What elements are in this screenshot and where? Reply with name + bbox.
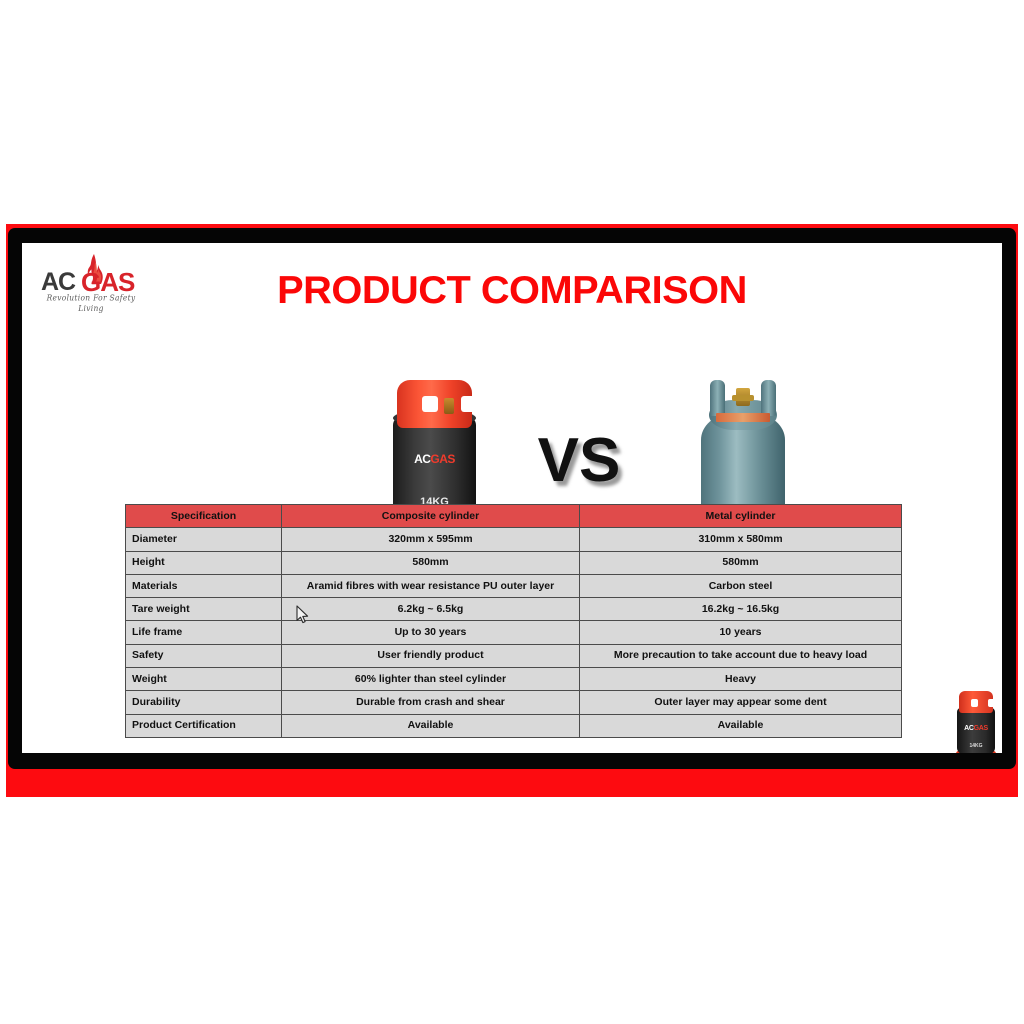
composite-handle-slot-right: [461, 396, 477, 412]
corner-handle-slot-right: [988, 699, 995, 707]
spec-label-cell: Weight: [126, 668, 282, 691]
spec-value-cell: Available: [580, 714, 902, 737]
spec-label-cell: Height: [126, 551, 282, 574]
table-row: Diameter320mm x 595mm310mm x 580mm: [126, 528, 902, 551]
spec-value-cell: 320mm x 595mm: [282, 528, 580, 551]
composite-handle-slot-left: [422, 396, 438, 412]
table-row: Height580mm580mm: [126, 551, 902, 574]
corner-handle-slot-left: [971, 699, 978, 707]
header-specification: Specification: [126, 505, 282, 528]
spec-value-cell: Up to 30 years: [282, 621, 580, 644]
spec-value-cell: Heavy: [580, 668, 902, 691]
table-row: SafetyUser friendly productMore precauti…: [126, 644, 902, 667]
spec-value-cell: 60% lighter than steel cylinder: [282, 668, 580, 691]
table-row: MaterialsAramid fibres with wear resista…: [126, 574, 902, 597]
table-row: Weight60% lighter than steel cylinderHea…: [126, 668, 902, 691]
spec-value-cell: 6.2kg ~ 6.5kg: [282, 598, 580, 621]
spec-value-cell: Outer layer may appear some dent: [580, 691, 902, 714]
header-composite: Composite cylinder: [282, 505, 580, 528]
spec-label-cell: Product Certification: [126, 714, 282, 737]
spec-value-cell: 580mm: [580, 551, 902, 574]
spec-label-cell: Tare weight: [126, 598, 282, 621]
steel-handle-left: [710, 380, 725, 416]
spec-value-cell: 310mm x 580mm: [580, 528, 902, 551]
slide-content: AC GAS Revolution For Safety Living PROD…: [22, 243, 1002, 753]
composite-collar-handle: [397, 380, 472, 428]
spec-value-cell: Available: [282, 714, 580, 737]
spec-value-cell: 10 years: [580, 621, 902, 644]
spec-label-cell: Materials: [126, 574, 282, 597]
steel-warning-label: [716, 413, 770, 422]
composite-logo-gas: GAS: [430, 452, 455, 466]
composite-logo-ac: AC: [414, 452, 430, 466]
spec-label-cell: Diameter: [126, 528, 282, 551]
header-metal: Metal cylinder: [580, 505, 902, 528]
corner-cylinder-image: ACGAS 14KG: [952, 687, 1000, 753]
comparison-table: Specification Composite cylinder Metal c…: [125, 504, 902, 738]
slide-canvas: AC GAS Revolution For Safety Living PROD…: [0, 0, 1024, 1024]
spec-value-cell: 16.2kg ~ 16.5kg: [580, 598, 902, 621]
table-row: Life frameUp to 30 years10 years: [126, 621, 902, 644]
corner-body-logo: ACGAS: [952, 725, 1000, 732]
product-hero: ACGAS 14KG VS Compo: [22, 303, 1002, 498]
spec-value-cell: More precaution to take account due to h…: [580, 644, 902, 667]
corner-logo-gas: GAS: [974, 725, 988, 732]
composite-body-logo: ACGAS: [382, 452, 487, 466]
spec-label-cell: Life frame: [126, 621, 282, 644]
corner-collar: [959, 691, 993, 713]
corner-capacity-label: 14KG: [952, 743, 1000, 749]
spec-value-cell: Durable from crash and shear: [282, 691, 580, 714]
steel-valve-nut: [732, 395, 754, 401]
versus-label: VS: [519, 425, 639, 496]
table-body: Diameter320mm x 595mm310mm x 580mmHeight…: [126, 528, 902, 738]
spec-label-cell: Safety: [126, 644, 282, 667]
steel-handle-right: [761, 380, 776, 416]
composite-valve: [444, 398, 454, 414]
table-row: DurabilityDurable from crash and shearOu…: [126, 691, 902, 714]
table-row: Tare weight6.2kg ~ 6.5kg16.2kg ~ 16.5kg: [126, 598, 902, 621]
spec-value-cell: Carbon steel: [580, 574, 902, 597]
table-row: Product CertificationAvailableAvailable: [126, 714, 902, 737]
spec-label-cell: Durability: [126, 691, 282, 714]
spec-value-cell: Aramid fibres with wear resistance PU ou…: [282, 574, 580, 597]
spec-value-cell: User friendly product: [282, 644, 580, 667]
spec-value-cell: 580mm: [282, 551, 580, 574]
table-header-row: Specification Composite cylinder Metal c…: [126, 505, 902, 528]
corner-logo-ac: AC: [964, 725, 974, 732]
